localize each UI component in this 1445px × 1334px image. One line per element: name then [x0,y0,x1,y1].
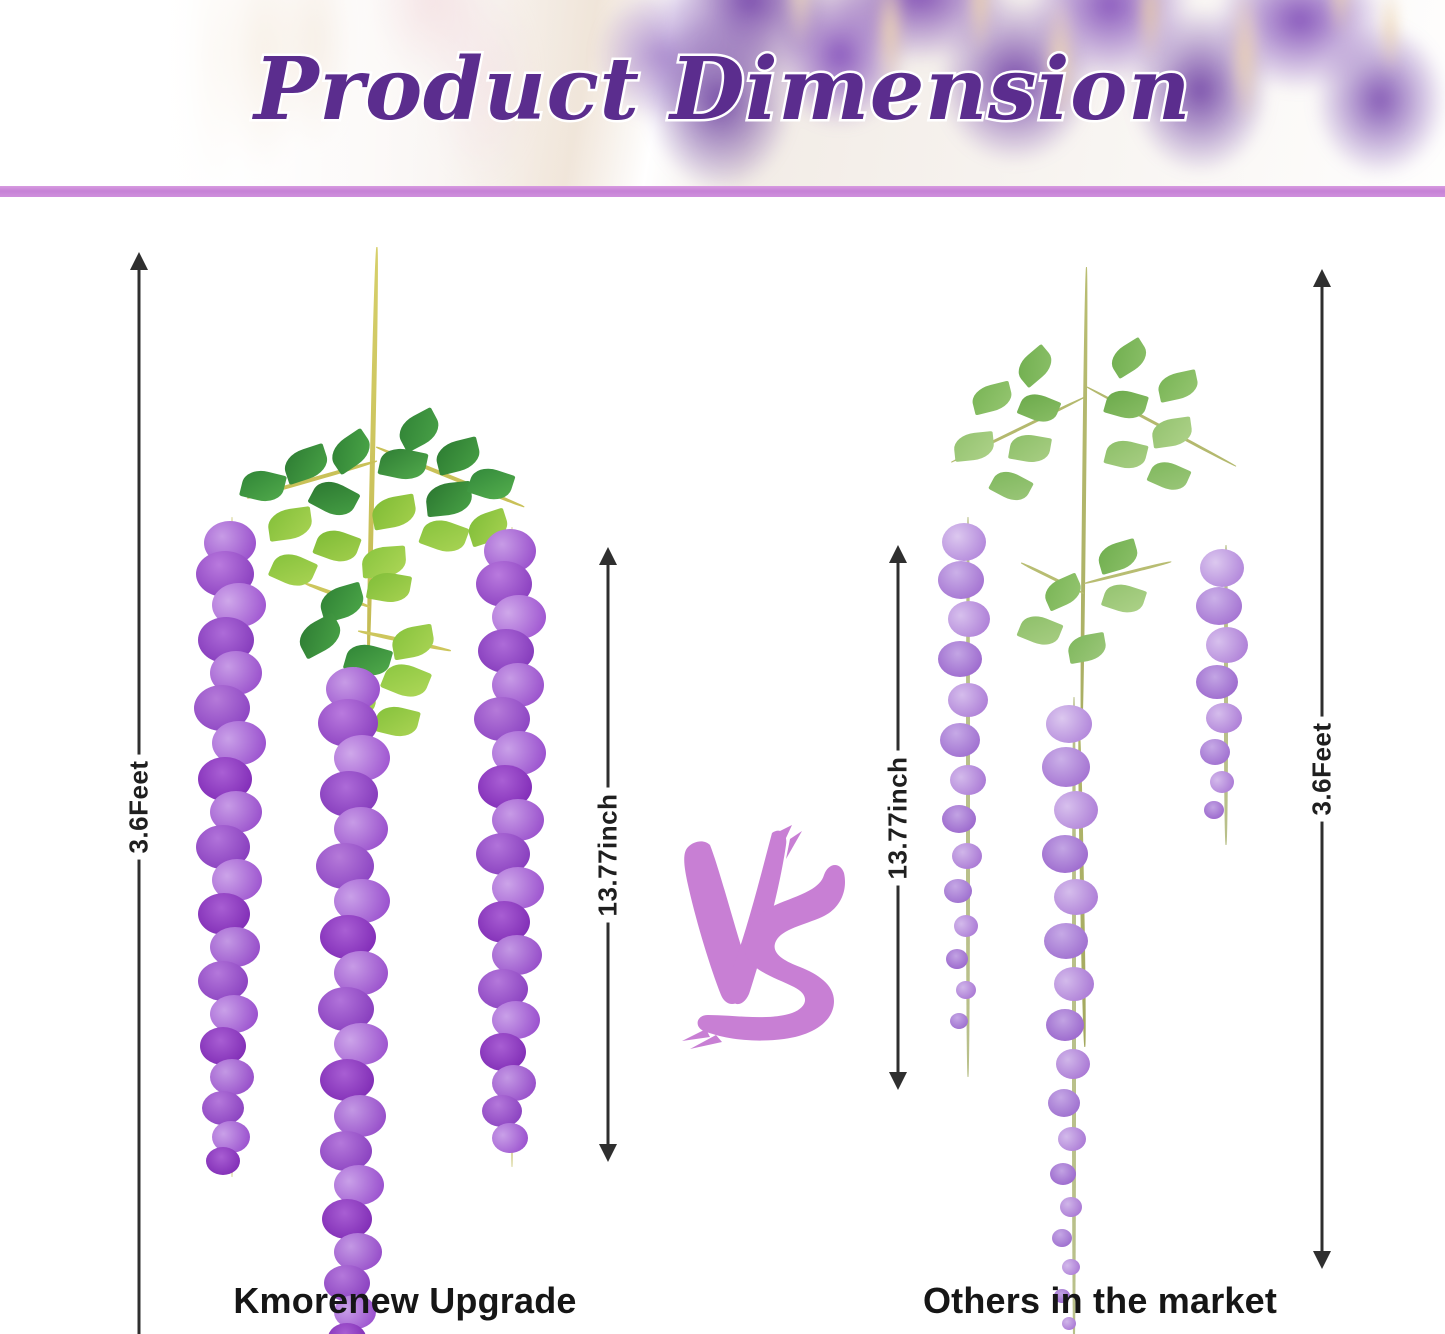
product-dimension-infographic: Product Dimension 3.6Feet [0,0,1445,1334]
versus-graphic [676,825,856,1050]
leaf [1016,610,1063,650]
leaf [969,381,1014,416]
leaf [424,481,473,518]
arrow-head-down-icon [599,1144,617,1162]
leaf [1008,432,1052,466]
leaf [1150,416,1193,448]
leaf [1040,572,1085,611]
comparison-canvas: 3.6Feet [0,197,1445,1334]
left-total-length-arrow: 3.6Feet [117,252,161,1334]
leaf [1103,437,1148,473]
leaf [418,514,470,557]
leaf [1066,632,1108,664]
flower-strand-left [930,517,1006,1077]
flower-strand-left [190,517,276,1177]
right-total-length-arrow: 3.6Feet [1300,269,1344,1269]
flower-strand-center [1034,697,1114,1334]
leaf [1101,579,1147,617]
caption-others: Others in the market [820,1280,1380,1322]
leaf [239,466,287,505]
arrow-head-down-icon [889,1072,907,1090]
caption-kmorenew: Kmorenew Upgrade [125,1280,685,1322]
leaf [312,525,362,568]
leaf [1106,337,1152,379]
flower-strand-center [310,667,402,1334]
leaf [370,493,419,530]
flower-strand-right [1190,545,1262,845]
right-total-length-label: 3.6Feet [1304,716,1341,821]
leaf [1017,389,1062,427]
leaf [433,436,483,476]
header-divider [0,186,1445,197]
leaf [280,443,331,485]
header-banner: Product Dimension [0,0,1445,188]
main-stem [1080,267,1089,737]
left-flower-length-label: 13.77inch [590,787,627,922]
leaf [307,474,360,522]
leaf [1146,456,1191,495]
leaf [953,431,996,462]
leaf [1156,369,1201,403]
leaf [1012,344,1058,388]
leaf [393,407,444,453]
product-kmorenew [180,197,600,1334]
leaf [390,624,437,661]
left-total-length-label: 3.6Feet [121,754,158,859]
arrow-head-down-icon [1313,1251,1331,1269]
product-others [910,197,1310,1334]
leaf [988,466,1034,507]
page-title: Product Dimension [0,0,1445,188]
flower-strand-right [470,527,556,1167]
left-flower-length-arrow: 13.77inch [586,547,630,1162]
